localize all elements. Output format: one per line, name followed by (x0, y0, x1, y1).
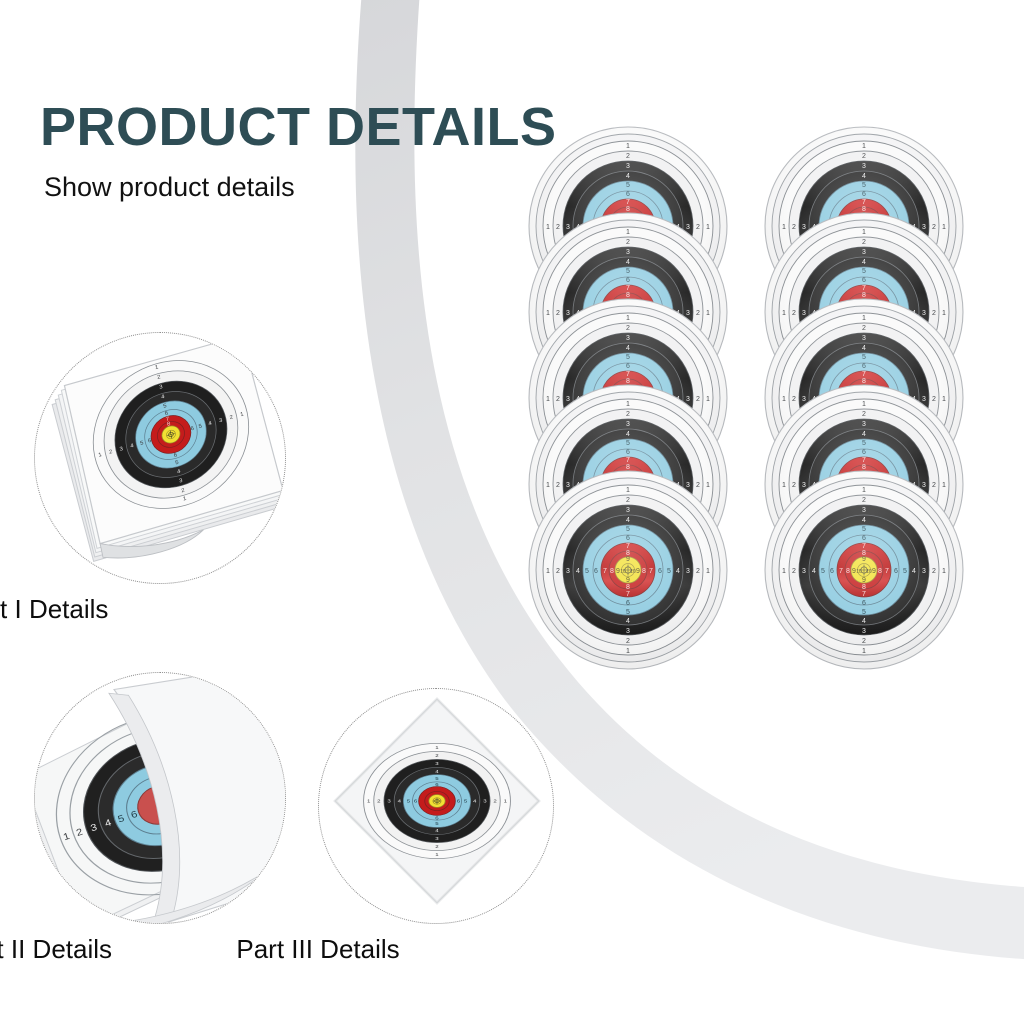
svg-text:4: 4 (435, 770, 438, 775)
svg-text:3: 3 (435, 837, 438, 842)
detail-circle-frame: 12 34 56 12 34 56 12 34 56 12 34 56 (318, 688, 554, 924)
svg-text:2: 2 (493, 799, 496, 804)
svg-text:6: 6 (435, 816, 438, 821)
svg-text:3: 3 (483, 799, 486, 804)
svg-text:5: 5 (435, 822, 438, 827)
page-title: PRODUCT DETAILS (40, 100, 557, 154)
svg-text:1: 1 (435, 746, 438, 751)
svg-text:2: 2 (435, 845, 438, 850)
page-subtitle: Show product details (44, 172, 557, 203)
detail-caption: Part II Details (0, 934, 112, 965)
svg-text:4: 4 (435, 829, 438, 834)
svg-text:5: 5 (464, 799, 467, 804)
product-details-page: PRODUCT DETAILS Show product details (0, 0, 1024, 1024)
svg-text:2: 2 (377, 799, 380, 804)
svg-text:6: 6 (457, 799, 460, 804)
single-target-diamond-art: 12 34 56 12 34 56 12 34 56 12 34 56 (319, 689, 554, 924)
target-sheet (528, 470, 728, 670)
svg-text:4: 4 (473, 799, 476, 804)
svg-text:5: 5 (435, 777, 438, 782)
svg-text:1: 1 (435, 853, 438, 858)
svg-text:6: 6 (435, 782, 438, 787)
target-edge-closeup-art: 12 34 56 (35, 673, 286, 924)
svg-text:3: 3 (435, 762, 438, 767)
detail-caption: Part I Details (0, 594, 108, 625)
svg-text:3: 3 (387, 799, 390, 804)
svg-text:5: 5 (407, 799, 410, 804)
detail-circle-frame: 12 34 56 (34, 672, 286, 924)
detail-circle-frame: 12 34 56 78 12 34 56 12 34 56 12 34 (34, 332, 286, 584)
paper-stack-art: 12 34 56 78 12 34 56 12 34 56 12 34 (35, 333, 286, 584)
svg-text:2: 2 (435, 754, 438, 759)
detail-caption: Part III Details (236, 934, 399, 965)
heading-block: PRODUCT DETAILS Show product details (40, 100, 557, 203)
svg-text:1: 1 (504, 799, 507, 804)
svg-text:6: 6 (414, 799, 417, 804)
target-sheet (764, 470, 964, 670)
svg-text:4: 4 (398, 799, 401, 804)
svg-text:1: 1 (367, 799, 370, 804)
